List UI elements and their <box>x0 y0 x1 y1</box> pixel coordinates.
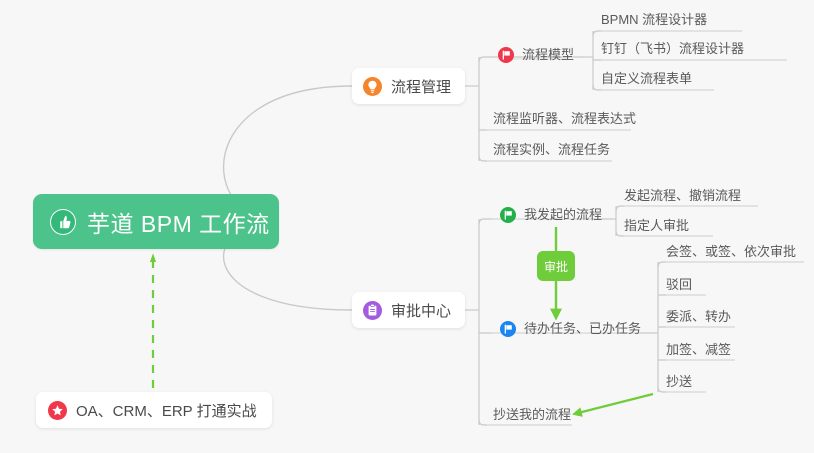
thumbs-up-icon <box>50 209 76 235</box>
root-node[interactable]: 芋道 BPM 工作流 <box>33 194 279 249</box>
leaf-process-instance-task-label: 流程实例、流程任务 <box>493 142 610 157</box>
leaf-dingtalk-feishu-designer[interactable]: 钉钉（飞书）流程设计器 <box>595 40 750 61</box>
leaf-cc[interactable]: 抄送 <box>660 373 698 394</box>
leaf-custom-process-form-label: 自定义流程表单 <box>601 71 692 86</box>
leaf-bpmn-designer-label: BPMN 流程设计器 <box>601 12 707 27</box>
leaf-countersign-orsign-sequential[interactable]: 会签、或签、依次审批 <box>660 243 802 264</box>
leaf-delegate-transfer-label: 委派、转办 <box>666 309 731 324</box>
leaf-assignee-approval-label: 指定人审批 <box>624 218 689 233</box>
star-icon <box>48 401 67 420</box>
leaf-process-listener-expression-label: 流程监听器、流程表达式 <box>493 111 636 126</box>
bottom-note-label: OA、CRM、ERP 打通实战 <box>76 400 257 421</box>
leaf-my-initiated-process-label: 我发起的流程 <box>524 206 602 223</box>
root-label: 芋道 BPM 工作流 <box>87 205 270 239</box>
leaf-assignee-approval[interactable]: 指定人审批 <box>618 217 695 238</box>
leaf-add-remove-sign-label: 加签、减签 <box>666 342 731 357</box>
approve-annotation-label: 审批 <box>544 258 568 275</box>
flag-icon-green <box>500 207 516 223</box>
approve-annotation-pill: 审批 <box>537 251 575 281</box>
leaf-add-remove-sign[interactable]: 加签、减签 <box>660 341 737 362</box>
branch-approval-center-label: 审批中心 <box>391 300 451 321</box>
flag-icon-red <box>498 47 514 63</box>
leaf-cc-to-me-process[interactable]: 抄送我的流程 <box>487 406 577 427</box>
leaf-todo-done-tasks-label: 待办任务、已办任务 <box>524 320 641 337</box>
leaf-countersign-orsign-sequential-label: 会签、或签、依次审批 <box>666 244 796 259</box>
branch-process-management-label: 流程管理 <box>391 76 451 97</box>
branch-approval-center[interactable]: 审批中心 <box>352 292 465 328</box>
bottom-note-card[interactable]: OA、CRM、ERP 打通实战 <box>36 392 272 428</box>
leaf-cc-label: 抄送 <box>666 374 692 389</box>
mindmap-canvas: 芋道 BPM 工作流 流程管理 流程模型 BPMN 流程设计器 钉钉（飞书 <box>0 0 814 453</box>
leaf-reject[interactable]: 驳回 <box>660 276 698 297</box>
leaf-delegate-transfer[interactable]: 委派、转办 <box>660 308 737 329</box>
leaf-my-initiated-process[interactable]: 我发起的流程 <box>494 206 608 227</box>
leaf-todo-done-tasks[interactable]: 待办任务、已办任务 <box>494 320 647 341</box>
leaf-bpmn-designer[interactable]: BPMN 流程设计器 <box>595 11 713 32</box>
leaf-start-cancel-process-label: 发起流程、撤销流程 <box>624 188 741 203</box>
leaf-custom-process-form[interactable]: 自定义流程表单 <box>595 70 698 91</box>
leaf-process-instance-task[interactable]: 流程实例、流程任务 <box>487 141 616 162</box>
flag-icon-blue <box>500 321 516 337</box>
arrow-cc-to-ccme <box>574 394 653 414</box>
leaf-cc-to-me-process-label: 抄送我的流程 <box>493 407 571 422</box>
branch-process-management[interactable]: 流程管理 <box>352 68 465 104</box>
leaf-start-cancel-process[interactable]: 发起流程、撤销流程 <box>618 187 747 208</box>
leaf-process-model-label: 流程模型 <box>522 46 574 63</box>
leaf-process-model[interactable]: 流程模型 <box>492 46 580 67</box>
leaf-process-listener-expression[interactable]: 流程监听器、流程表达式 <box>487 110 642 131</box>
leaf-dingtalk-feishu-designer-label: 钉钉（飞书）流程设计器 <box>601 41 744 56</box>
lightbulb-icon <box>363 77 382 96</box>
leaf-reject-label: 驳回 <box>666 277 692 292</box>
clipboard-icon <box>363 301 382 320</box>
